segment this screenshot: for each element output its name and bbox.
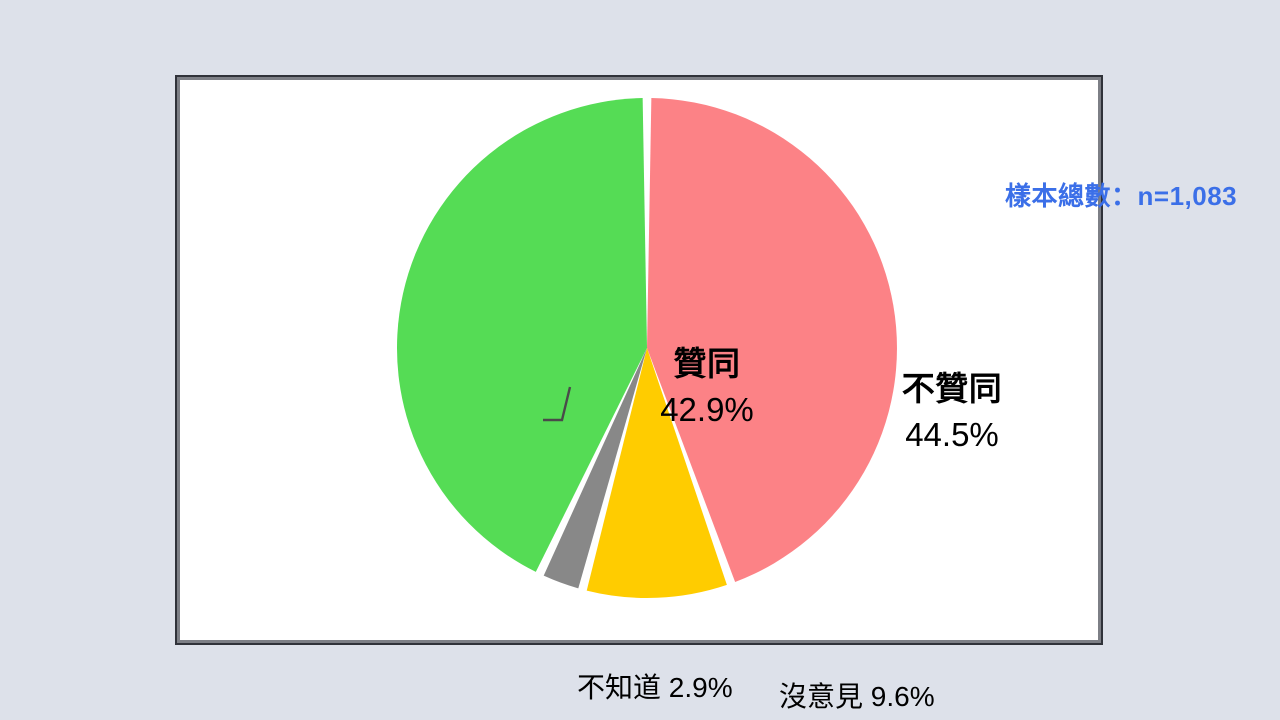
sample-size-annotation: 樣本總數：n=1,083 bbox=[1005, 176, 1237, 213]
slide-canvas: 贊同 42.9% 不贊同 44.5% 不知道 2.9% 沒意見 9.6% 樣本總… bbox=[0, 0, 1280, 720]
pie-label-dont-know: 不知道 2.9% bbox=[577, 666, 733, 706]
pie-slices bbox=[397, 98, 897, 598]
pie-label-no-opinion: 沒意見 9.6% bbox=[779, 675, 935, 715]
chart-frame: 贊同 42.9% 不贊同 44.5% 不知道 2.9% 沒意見 9.6% 樣本總… bbox=[175, 75, 1103, 645]
pie-chart: 贊同 42.9% 不贊同 44.5% 不知道 2.9% 沒意見 9.6% 樣本總… bbox=[177, 77, 1101, 643]
pie-svg bbox=[177, 77, 1105, 643]
